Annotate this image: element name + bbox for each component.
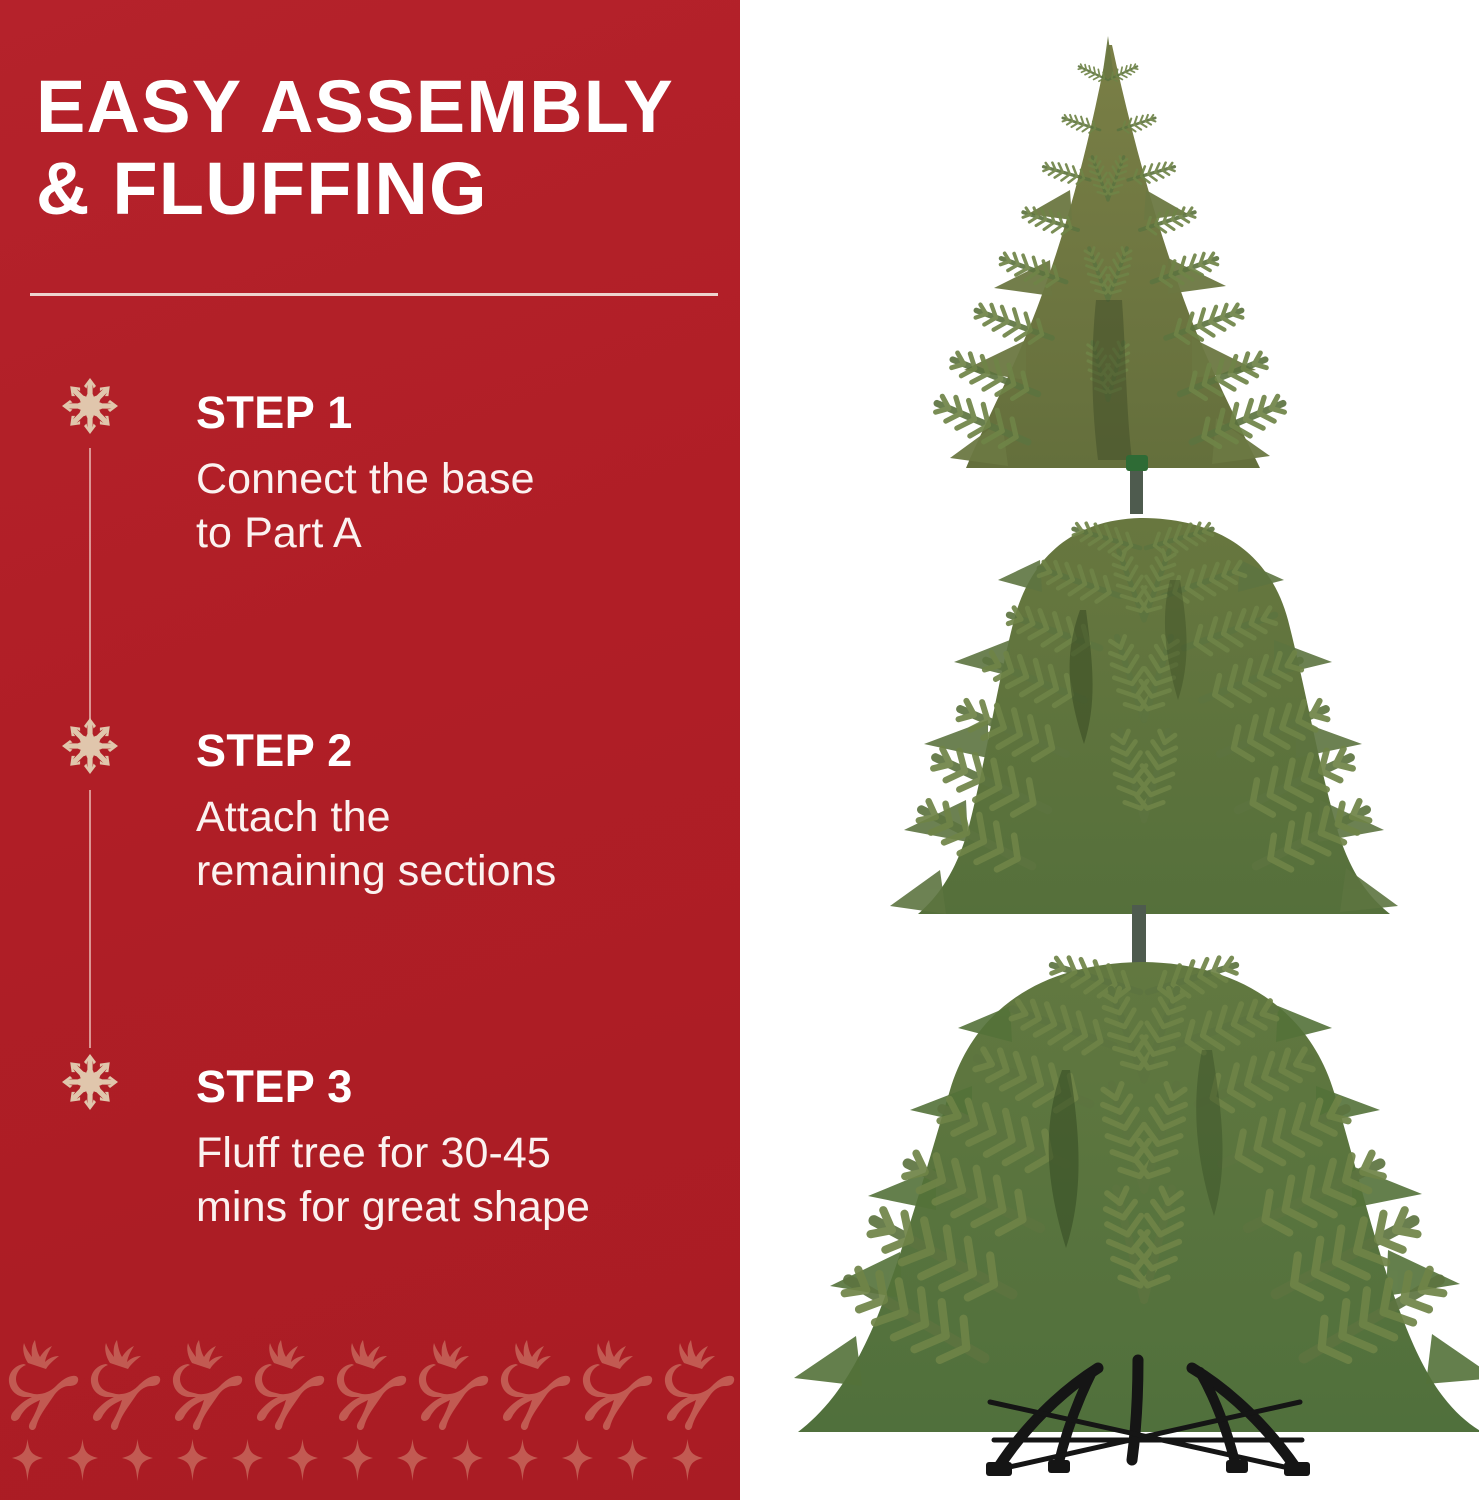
step-description: Attach the remaining sections [196, 790, 716, 898]
step-description: Connect the base to Part A [196, 452, 716, 560]
timeline-connector-1 [89, 448, 91, 720]
reindeer-icon [326, 1337, 410, 1433]
reindeer-icon [0, 1337, 82, 1433]
star-icon [110, 1437, 165, 1483]
star-pattern-row [0, 1437, 740, 1483]
reindeer-icon [572, 1337, 656, 1433]
star-icon [0, 1437, 55, 1483]
star-icon [220, 1437, 275, 1483]
product-infographic: EASY ASSEMBLY & FLUFFING [0, 0, 1479, 1500]
snowflake-icon [58, 714, 122, 778]
center-pole [1132, 905, 1146, 963]
reindeer-pattern-row [0, 1333, 740, 1433]
snowflake-icon [58, 374, 122, 438]
star-icon [440, 1437, 495, 1483]
reindeer-icon [162, 1337, 246, 1433]
step-label: STEP 2 [196, 726, 716, 776]
step-label: STEP 1 [196, 388, 716, 438]
reindeer-icon [490, 1337, 574, 1433]
star-icon [165, 1437, 220, 1483]
steps-timeline: STEP 1 Connect the base to Part A STEP 2… [0, 0, 740, 1500]
star-icon [385, 1437, 440, 1483]
festive-border [0, 1325, 740, 1500]
step-item-1: STEP 1 Connect the base to Part A [196, 388, 716, 560]
star-icon [660, 1437, 715, 1483]
star-icon [275, 1437, 330, 1483]
step-description: Fluff tree for 30-45 mins for great shap… [196, 1126, 716, 1234]
step-item-2: STEP 2 Attach the remaining sections [196, 726, 716, 898]
reindeer-icon [654, 1337, 738, 1433]
star-icon [330, 1437, 385, 1483]
step-label: STEP 3 [196, 1062, 716, 1112]
reindeer-icon [408, 1337, 492, 1433]
star-icon [605, 1437, 660, 1483]
star-icon [495, 1437, 550, 1483]
product-photo [740, 0, 1479, 1500]
christmas-tree-illustration [740, 0, 1479, 1500]
reindeer-icon [244, 1337, 328, 1433]
star-icon [550, 1437, 605, 1483]
step-item-3: STEP 3 Fluff tree for 30-45 mins for gre… [196, 1062, 716, 1234]
timeline-connector-2 [89, 790, 91, 1048]
star-icon [55, 1437, 110, 1483]
info-panel: EASY ASSEMBLY & FLUFFING [0, 0, 740, 1500]
reindeer-icon [80, 1337, 164, 1433]
snowflake-icon [58, 1050, 122, 1114]
